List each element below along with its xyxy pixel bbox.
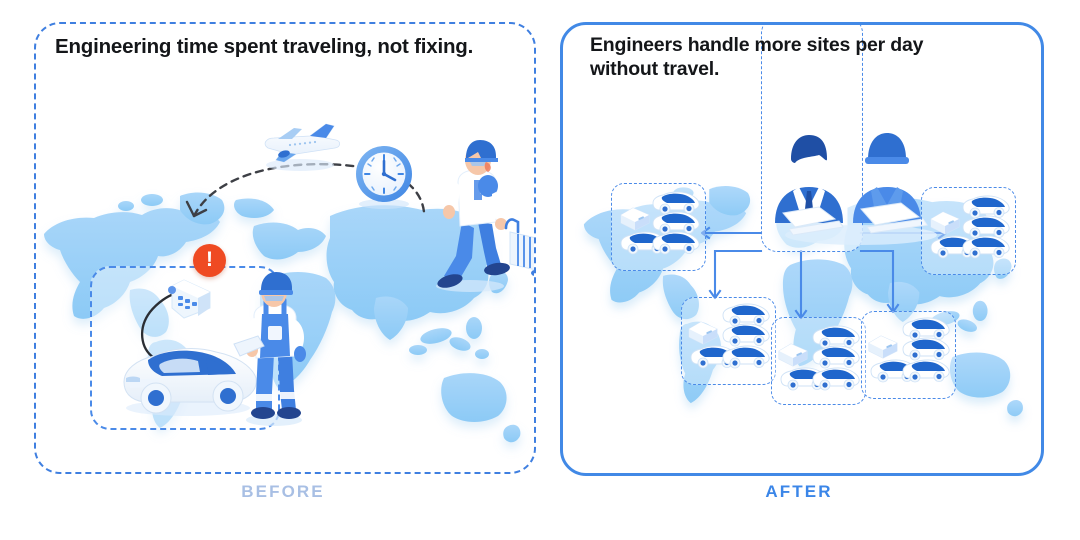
site-cluster-south-america: [685, 301, 771, 381]
after-heading: Engineers handle more sites per day with…: [590, 34, 990, 82]
clock-icon: [350, 142, 418, 210]
operator-manager-icon: [775, 135, 843, 235]
before-panel: !: [34, 22, 536, 474]
before-heading: Engineering time spent traveling, not fi…: [55, 34, 475, 59]
traveling-engineer-icon: [422, 136, 534, 296]
comparison-canvas: !: [0, 0, 1080, 540]
site-cluster-north-america: [615, 187, 701, 267]
before-caption: BEFORE: [34, 482, 532, 502]
after-caption: AFTER: [560, 482, 1038, 502]
after-panel: [560, 22, 1044, 476]
airplane-icon: [248, 108, 342, 174]
field-engineer-icon: [228, 270, 322, 428]
site-cluster-africa: [775, 321, 861, 401]
operator-engineer-icon: [853, 133, 927, 233]
alert-badge-glyph: !: [206, 249, 213, 270]
site-cluster-oceania: [865, 315, 951, 395]
before-panel-inner: !: [36, 24, 534, 472]
charger-icon: [621, 208, 649, 230]
site-cluster-asia: [925, 191, 1011, 271]
after-panel-inner: [563, 25, 1041, 473]
